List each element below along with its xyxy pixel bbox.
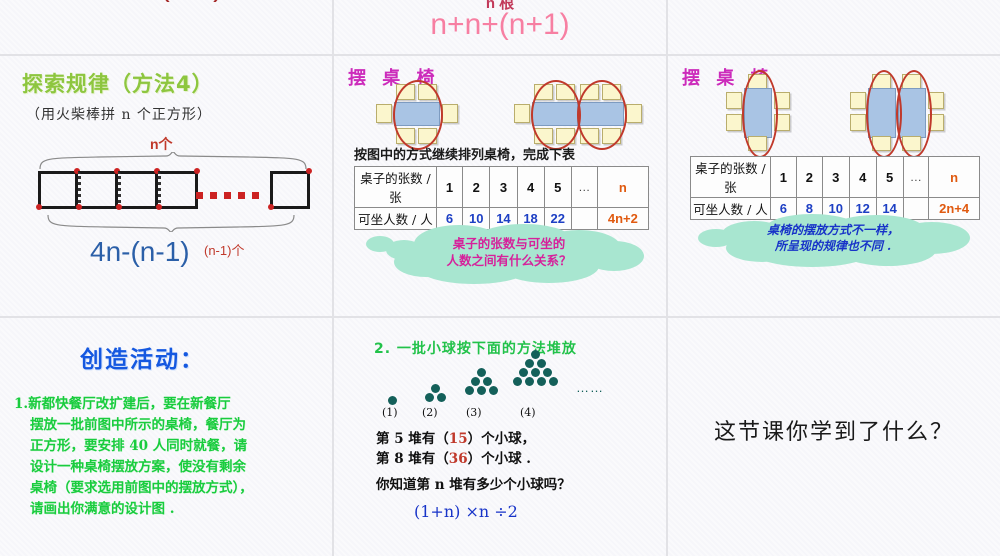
formula-n-plus-n-plus-n-1: n+n+(n+1) [334, 8, 666, 42]
cloud-line-1: 桌椅的摆放方式不一样， [708, 222, 958, 238]
slide-final-question[interactable]: 这节课你学到了什么？ [668, 318, 1000, 556]
method4-subtitle: （用火柴棒拼 n 个正方形） [26, 104, 212, 124]
activity-line-4: 设计一种桌椅摆放方案，使没有剩余 [14, 457, 324, 478]
activity-line-1: 1.新都快餐厅改扩建后，要在新餐厅 [14, 396, 231, 412]
cell-count-2: 2 [796, 157, 822, 198]
ball-pile-4 [510, 340, 562, 406]
cloud-text-v: 桌椅的摆放方式不一样， 所呈现的规律也不同 . [708, 222, 958, 254]
cloud-line-2: 人数之间有什么关系？ [394, 253, 624, 270]
instruction-text-h: 按图中的方式继续排列桌椅，完成下表 [354, 144, 575, 163]
matchstick-squares-figure [38, 171, 313, 215]
activity-line-2: 摆放一批前图中所示的桌椅，餐厅为 [14, 415, 324, 436]
cell-count-ellipsis: … [903, 157, 929, 198]
table-chair-group-double-h [514, 84, 668, 142]
line2-value: 36 [449, 451, 468, 467]
cell-count-n: n [929, 157, 980, 198]
formula-1-plus-3n: 1+3n [668, 0, 1000, 6]
cell-count-ellipsis: … [571, 167, 597, 208]
slide-explore-method4[interactable]: 探索规律（方法4） （用火柴棒拼 n 个正方形） n个 [0, 56, 334, 318]
ball-pile-3 [462, 350, 502, 406]
brace-bottom-icon [46, 214, 296, 232]
table-chair-group-single-h [376, 84, 486, 142]
ball-pile-1 [384, 366, 404, 406]
line1-prefix: 第 5 堆有（ [376, 431, 449, 447]
cell-count-4: 4 [517, 167, 544, 208]
final-question-text: 这节课你学到了什么？ [668, 414, 1000, 446]
pile-label-4: (4) [520, 406, 536, 419]
table-chair-group-double-v [850, 74, 990, 150]
cell-count-3: 3 [822, 157, 849, 198]
ball-answer-line-2: 第 8 堆有（36）个小球 . [376, 450, 531, 470]
slide-ball-piles[interactable]: 2. 一批小球按下面的方法堆放 [334, 318, 668, 556]
activity-line-3: 正方形，要安排 40 人同时就餐，请 [14, 436, 324, 457]
cloud-line-2: 所呈现的规律也不同 . [708, 238, 958, 254]
cell-count-3: 3 [490, 167, 517, 208]
slide-top-left[interactable]: 4+3(n-1) [0, 0, 334, 56]
ball-formula: (1+n) ×n ÷2 [414, 502, 518, 521]
table-row: 桌子的张数 / 张 1 2 3 4 5 … n [355, 167, 649, 208]
activity-line-6: 请画出你满意的设计图 . [14, 499, 324, 520]
table-row: 桌子的张数 / 张 1 2 3 4 5 … n [691, 157, 980, 198]
slide-creative-activity[interactable]: 创造活动： 1.新都快餐厅改扩建后，要在新餐厅 摆放一批前图中所示的桌椅，餐厅为… [0, 318, 334, 556]
slide-tables-horizontal[interactable]: 摆 桌 椅 按图中 [334, 56, 668, 318]
data-table-vertical: 桌子的张数 / 张 1 2 3 4 5 … n 可坐人数 / 人 6 8 10 … [690, 156, 980, 220]
line2-prefix: 第 8 堆有（ [376, 451, 449, 467]
brace-top-icon [38, 152, 308, 170]
data-table-horizontal: 桌子的张数 / 张 1 2 3 4 5 … n 可坐人数 / 人 6 10 14… [354, 166, 649, 230]
page-title-create-activity: 创造活动： [80, 340, 205, 374]
ball-question: 你知道第 n 堆有多少个小球吗？ [376, 476, 571, 496]
ball-answer-line-1: 第 5 堆有（15）个小球， [376, 430, 535, 450]
pile-label-1: (1) [382, 406, 398, 419]
row-label-tables: 桌子的张数 / 张 [355, 167, 437, 208]
line2-suffix: ）个小球 . [468, 451, 531, 467]
pile-label-3: (3) [466, 406, 482, 419]
ellipsis-dots-icon [196, 186, 266, 204]
cell-count-1: 1 [770, 157, 796, 198]
cell-count-n: n [597, 167, 648, 208]
cell-count-5: 5 [876, 157, 903, 198]
table-chair-group-single-v [726, 74, 836, 150]
ball-pile-continuation: …… [576, 380, 604, 395]
slide-top-right[interactable]: 1+3n [668, 0, 1000, 56]
cloud-text-h: 桌子的张数与可坐的 人数之间有什么关系？ [394, 236, 624, 270]
top-left-formula-wrap: 4+3(n-1) [0, 0, 332, 4]
formula-4-plus-3n-1: 4+3(n-1) [109, 0, 223, 3]
page-title-method4: 探索规律（方法4） [22, 68, 214, 98]
cell-count-5: 5 [544, 167, 571, 208]
cell-count-2: 2 [463, 167, 490, 208]
brace-bottom-label: (n-1)个 [204, 240, 244, 259]
pile-label-2: (2) [422, 406, 438, 419]
row-label-tables: 桌子的张数 / 张 [691, 157, 771, 198]
activity-line-5: 桌椅（要求选用前图中的摆放方式）， [14, 478, 324, 499]
activity-body-text: 1.新都快餐厅改扩建后，要在新餐厅 摆放一批前图中所示的桌椅，餐厅为 正方形，要… [14, 394, 324, 520]
cell-count-4: 4 [849, 157, 876, 198]
line1-suffix: ）个小球， [468, 431, 536, 447]
slide-thumbnail-grid: 4+3(n-1) n 根 n+n+(n+1) 1+3n 探索规律（方法4） （用… [0, 0, 1000, 556]
slide-tables-vertical[interactable]: 摆 桌 椅 桌子的张数 / 张 [668, 56, 1000, 318]
cell-count-1: 1 [436, 167, 462, 208]
line1-value: 15 [449, 431, 468, 447]
formula-4n-minus-n-1: 4n-(n-1) [90, 236, 190, 268]
brace-top-label: n个 [150, 134, 173, 154]
ball-pile-2 [422, 358, 452, 406]
cloud-line-1: 桌子的张数与可坐的 [394, 236, 624, 253]
slide-top-middle[interactable]: n 根 n+n+(n+1) [334, 0, 668, 56]
